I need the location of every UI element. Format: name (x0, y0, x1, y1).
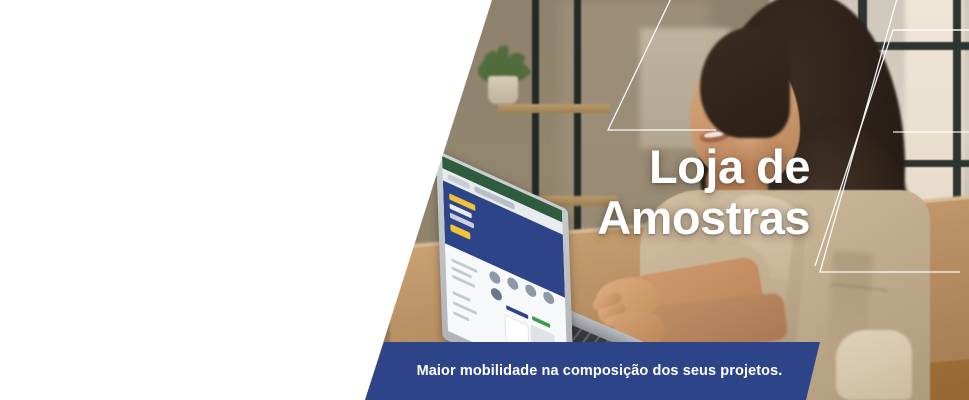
title-line-1: Loja de (430, 142, 810, 193)
title-line-2: Amostras (430, 193, 810, 244)
hair-front (700, 28, 790, 138)
sleeve-cuff (836, 330, 912, 400)
banner-title: Loja de Amostras (430, 142, 810, 244)
caption-text: Maior mobilidade na composição dos seus … (365, 342, 820, 400)
promo-banner: Loja de Amostras Maior mobilidade na com… (0, 0, 969, 400)
